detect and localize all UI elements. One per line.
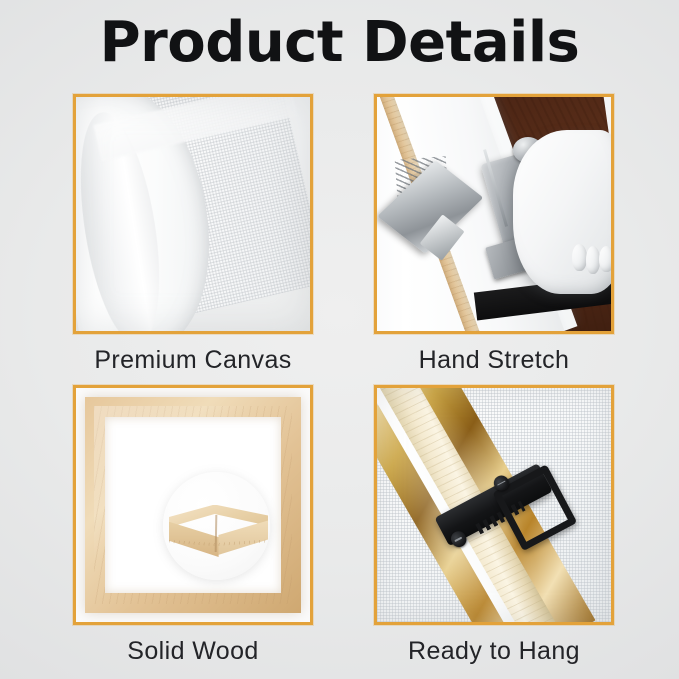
feature-card-premium-canvas[interactable]: Premium Canvas [73,94,313,377]
feature-card-hand-stretch[interactable]: Hand Stretch [374,94,614,377]
product-details-infographic: Product Details Premium Canvas [0,0,679,679]
feature-card-solid-wood[interactable]: Solid Wood [73,385,313,668]
feature-image-premium-canvas [73,94,313,334]
feature-image-ready-to-hang [374,385,614,625]
feature-label-ready-to-hang: Ready to Hang [374,634,614,668]
page-title: Product Details [0,10,679,76]
white-glove-hand [513,130,611,294]
feature-image-hand-stretch [374,94,614,334]
tile-vignette [377,388,611,622]
feature-grid: Premium Canvas [73,94,614,639]
feature-image-solid-wood [73,385,313,625]
feature-card-ready-to-hang[interactable]: Ready to Hang [374,385,614,668]
feature-label-hand-stretch: Hand Stretch [374,343,614,377]
corner-joint-inset-circle [163,472,271,580]
feature-label-premium-canvas: Premium Canvas [73,343,313,377]
tile-vignette [76,97,310,331]
feature-label-solid-wood: Solid Wood [73,634,313,668]
